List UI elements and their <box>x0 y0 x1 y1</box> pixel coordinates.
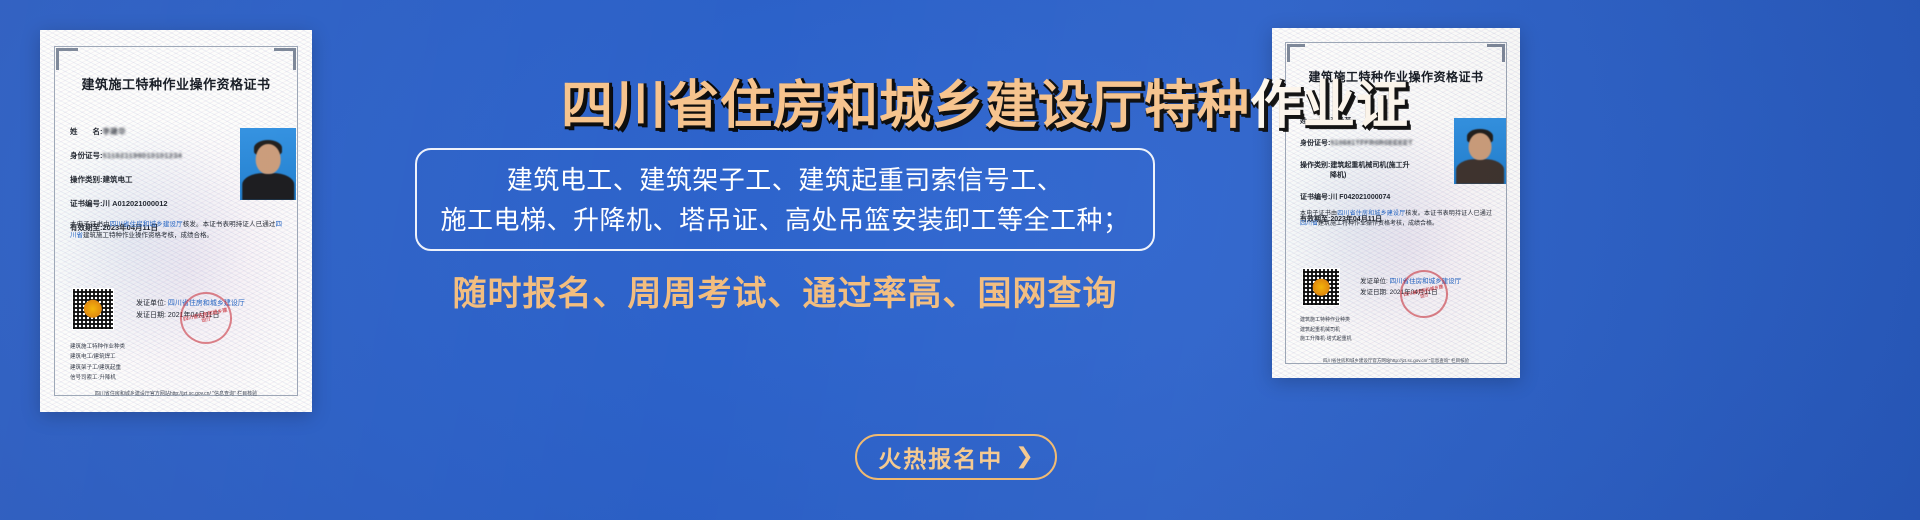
certificate-qr-code <box>1302 268 1340 306</box>
certificate-field-category: 操作类别: 建筑起重机械司机(施工升 <box>1300 160 1413 170</box>
issuer-label: 发证单位: <box>1360 278 1388 285</box>
certificate-corner-ornament <box>1487 44 1505 62</box>
enroll-now-button[interactable]: 火热报名中 ❯ <box>855 434 1057 480</box>
certificate-field-number: 证书编号: 川 F042021000074 <box>1300 192 1413 202</box>
legend-item: 建筑架子工/建筑起重 <box>70 363 125 373</box>
statement-post: 建筑施工特种作业操作资格考核，成绩合格。 <box>1318 221 1438 227</box>
field-label: 操作类别: <box>70 174 103 185</box>
field-value: 建筑电工 <box>103 174 133 185</box>
certificate-legend-list: 建筑施工特种作业种类 建筑电工/建筑焊工 建筑架子工/建筑起重 信号司索工·升降… <box>70 342 125 384</box>
portrait-body <box>1456 159 1504 184</box>
portrait-face <box>256 144 281 174</box>
certificate-field-number: 证书编号: 川 A012021000012 <box>70 198 182 209</box>
statement-org2: 四川省 <box>1300 221 1318 227</box>
certificate-field-category: 操作类别: 建筑电工 <box>70 174 182 185</box>
qr-center-emblem <box>1313 279 1330 296</box>
qr-center-emblem <box>84 300 102 318</box>
legend-item: 信号司索工·升降机 <box>70 373 125 383</box>
certificate-statement-paragraph: 本电子证书由四川省住房和城乡建设厅核发。本证书表明持证人已通过四川省建筑施工特种… <box>70 220 282 241</box>
scope-line-2: 施工电梯、升降机、塔吊证、高处吊篮安装卸工等全工种； <box>440 200 1129 240</box>
field-value: 建筑起重机械司机(施工升 <box>1330 160 1409 170</box>
certificate-statement-paragraph: 本电子证书由四川省住房和城乡建设厅核发。本证书表明持证人已通过四川省建筑施工特种… <box>1300 210 1492 230</box>
banner-tagline: 随时报名、周周考试、通过率高、国网查询 <box>415 272 1155 316</box>
legend-item: 建筑电工/建筑焊工 <box>70 352 125 362</box>
field-value: 510681TFFR0R0EEEET <box>1330 140 1412 147</box>
banner-headline: 四川省住房和城乡建设厅特种作业证 <box>0 78 1920 134</box>
legend-item: 建筑起重机械司机 <box>1300 326 1352 336</box>
portrait-body <box>242 173 294 200</box>
statement-mid: 核发。本证书表明持证人已通过 <box>183 221 276 228</box>
headline-segment-white: 作业证 <box>1250 77 1409 135</box>
scope-line-1: 建筑电工、建筑架子工、建筑起重司索信号工、 <box>507 160 1064 200</box>
certificate-qr-code <box>72 288 114 330</box>
promo-banner: 建筑施工特种作业操作资格证书 姓 名: 李建华 身份证号: 5116211990… <box>0 0 1920 520</box>
statement-mid: 核发。本证书表明持证人已通过 <box>1405 211 1492 217</box>
statement-pre: 本电子证书由 <box>1300 211 1337 217</box>
scope-info-box: 建筑电工、建筑架子工、建筑起重司索信号工、 施工电梯、升降机、塔吊证、高处吊篮安… <box>415 148 1155 251</box>
certificate-field-id: 身份证号: 511621199010101234 <box>70 150 182 161</box>
certificate-footer-note: 四川省住房和城乡建设厅官方网站http://jzt.sc.gov.cn/ "信息… <box>40 390 312 397</box>
field-label: 身份证号: <box>1300 138 1330 148</box>
certificate-field-id: 身份证号: 510681TFFR0R0EEEET <box>1300 138 1413 148</box>
field-value: 降机) <box>1330 170 1346 180</box>
field-value: 川 A012021000012 <box>103 198 168 209</box>
enroll-now-label: 火热报名中 <box>878 440 1003 474</box>
issue-date-label: 发证日期: <box>1360 289 1388 296</box>
field-label: 身份证号: <box>70 150 103 161</box>
certificate-legend-list: 建筑施工特种作业种类 建筑起重机械司机 施工升降机·塔式起重机 <box>1300 316 1352 345</box>
legend-item: 建筑施工特种作业种类 <box>70 342 125 352</box>
issue-date-label: 发证日期: <box>136 312 166 319</box>
certificate-corner-ornament <box>1287 44 1305 62</box>
issuer-label: 发证单位: <box>136 300 166 307</box>
legend-item: 施工升降机·塔式起重机 <box>1300 335 1352 345</box>
chevron-right-icon: ❯ <box>1015 445 1033 467</box>
certificate-field-list: 姓 名: 李建华 身份证号: 511621199010101234 操作类别: … <box>70 126 182 233</box>
field-label: 证书编号: <box>70 198 103 209</box>
statement-post: 建筑施工特种作业操作资格考核，成绩合格。 <box>83 232 213 239</box>
field-value: 川 F042021000074 <box>1330 192 1390 202</box>
certificate-portrait-photo <box>240 128 296 200</box>
field-label: 证书编号: <box>1300 192 1330 202</box>
field-label: 操作类别: <box>1300 160 1330 170</box>
headline-segment-orange: 四川省住房和城乡建设厅特种 <box>561 77 1250 135</box>
certificate-corner-ornament <box>56 48 78 70</box>
field-value: 511621199010101234 <box>103 151 183 160</box>
portrait-face <box>1469 133 1492 161</box>
certificate-corner-ornament <box>274 48 296 70</box>
statement-org: 四川省住房和城乡建设厅 <box>110 221 183 228</box>
legend-item: 建筑施工特种作业种类 <box>1300 316 1352 326</box>
certificate-field-category-cont: 降机) <box>1330 170 1413 180</box>
certificate-footer-note: 四川省住房和城乡建设厅官方网站http://jzt.sc.gov.cn/ "信息… <box>1272 358 1520 364</box>
statement-pre: 本电子证书由 <box>70 221 110 228</box>
statement-org: 四川省住房和城乡建设厅 <box>1337 211 1405 217</box>
